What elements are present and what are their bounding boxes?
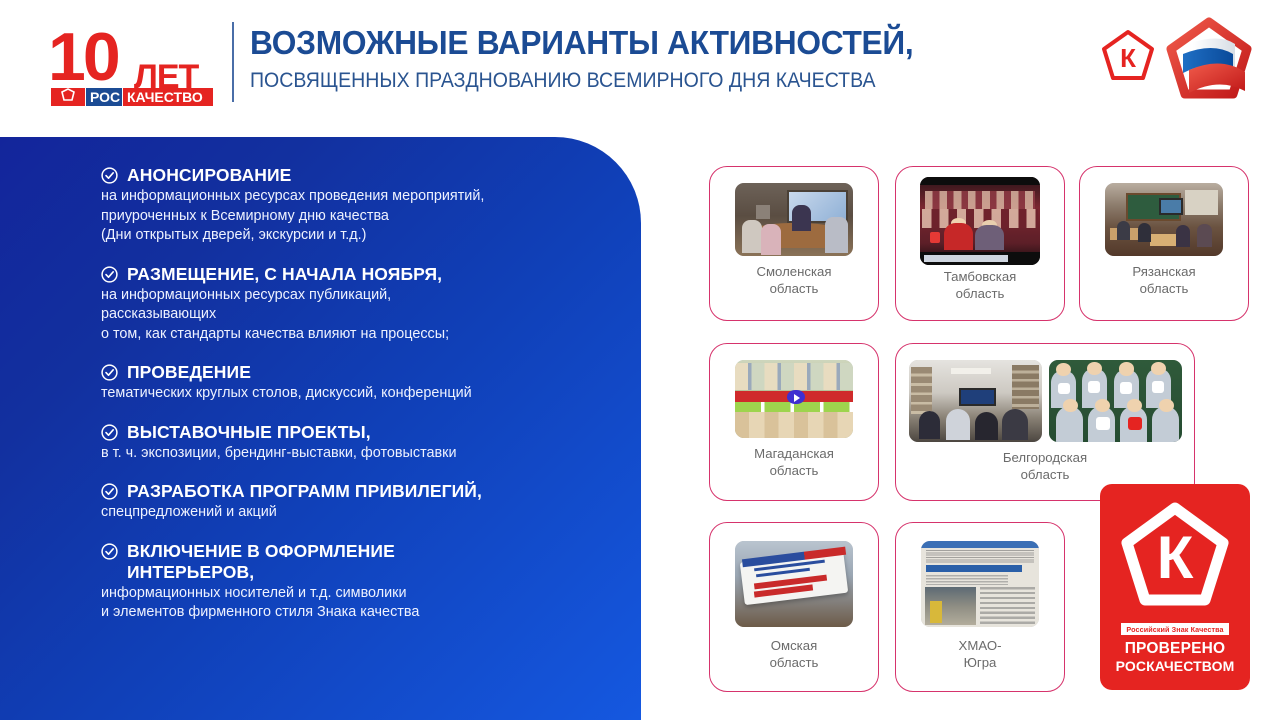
card-photos bbox=[920, 183, 1040, 265]
region-card-ryazan[interactable]: Рязанская область bbox=[1079, 166, 1249, 321]
card-label: Белгородская область bbox=[1003, 449, 1087, 483]
svg-text:К: К bbox=[1157, 524, 1194, 591]
quality-badge: К Российский Знак Качества ПРОВЕРЕНО РОС… bbox=[1100, 484, 1250, 690]
photo-hmao-newspaper bbox=[921, 541, 1039, 627]
card-label: Магаданская область bbox=[754, 445, 834, 479]
card-label: Тамбовская область bbox=[944, 268, 1017, 302]
card-photos bbox=[735, 183, 853, 256]
photo-belgorod-library bbox=[909, 360, 1042, 442]
card-label: ХМАО- Югра bbox=[959, 637, 1002, 671]
card-label-line1: ХМАО- bbox=[959, 638, 1002, 653]
region-card-belgorod[interactable]: Белгородская область bbox=[895, 343, 1195, 501]
region-card-tambov[interactable]: Тамбовская область bbox=[895, 166, 1065, 321]
badge-line-1: ПРОВЕРЕНО bbox=[1125, 640, 1226, 658]
card-label-line2: область bbox=[956, 286, 1005, 301]
photo-omsk-conference-banner bbox=[735, 541, 853, 627]
region-card-hmao[interactable]: ХМАО- Югра bbox=[895, 522, 1065, 692]
card-photos bbox=[921, 541, 1039, 627]
card-label-line2: область bbox=[770, 463, 819, 478]
badge-pentagon-k-icon: К bbox=[1120, 500, 1230, 613]
card-label-line1: Белгородская bbox=[1003, 450, 1087, 465]
region-card-magadan[interactable]: Магаданская область bbox=[709, 343, 879, 501]
badge-ribbon: Российский Знак Качества bbox=[1121, 623, 1228, 635]
card-photos bbox=[909, 360, 1182, 442]
photo-tambov-broadcast bbox=[920, 177, 1040, 265]
card-label-line2: область bbox=[1140, 281, 1189, 296]
card-label-line2: область bbox=[770, 281, 819, 296]
card-label: Смоленская область bbox=[756, 263, 831, 297]
card-label: Омская область bbox=[770, 637, 819, 671]
photo-magadan-shelf bbox=[735, 360, 853, 438]
card-label-line1: Омская bbox=[771, 638, 817, 653]
card-photos bbox=[735, 360, 853, 438]
photo-ryazan-classroom bbox=[1105, 183, 1223, 256]
card-label-line2: Югра bbox=[964, 655, 997, 670]
region-card-omsk[interactable]: Омская область bbox=[709, 522, 879, 692]
card-label-line2: область bbox=[1021, 467, 1070, 482]
photo-smolensk-roundtable bbox=[735, 183, 853, 256]
badge-line-2: РОСКАЧЕСТВОМ bbox=[1116, 658, 1235, 675]
card-photos bbox=[1105, 183, 1223, 256]
card-label: Рязанская область bbox=[1132, 263, 1195, 297]
card-label-line1: Тамбовская bbox=[944, 269, 1017, 284]
region-card-smolensk[interactable]: Смоленская область bbox=[709, 166, 879, 321]
card-label-line1: Магаданская bbox=[754, 446, 834, 461]
card-photos bbox=[735, 541, 853, 627]
region-card-grid: Смоленская область Тамбовская область Ря… bbox=[0, 0, 1280, 720]
photo-belgorod-students bbox=[1049, 360, 1182, 442]
card-label-line1: Рязанская bbox=[1132, 264, 1195, 279]
card-label-line1: Смоленская bbox=[756, 264, 831, 279]
card-label-line2: область bbox=[770, 655, 819, 670]
